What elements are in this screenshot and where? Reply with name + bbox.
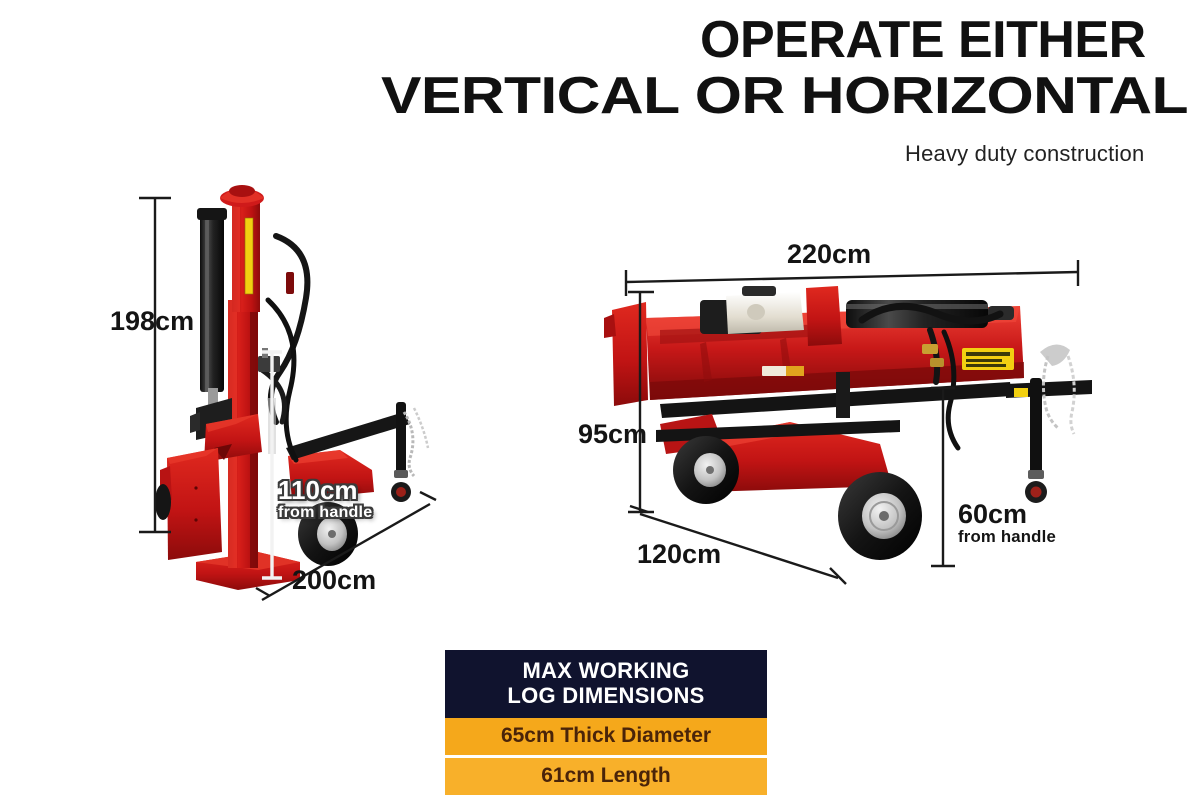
dimline-198cm [139, 198, 171, 532]
dimension-label-length-220cm: 220cm [787, 240, 871, 268]
dimline-110cm [262, 352, 282, 578]
dimension-note-from-handle-2: from handle [958, 528, 1056, 546]
infographic-canvas: OPERATE EITHER VERTICAL OR HORIZONTAL He… [0, 0, 1200, 800]
dimension-label-height-198cm: 198cm [110, 307, 194, 335]
max-log-dimensions-panel: MAX WORKING LOG DIMENSIONS 65cm Thick Di… [445, 650, 767, 795]
spec-row-thick-diameter: 65cm Thick Diameter [445, 718, 767, 755]
dimension-label-110cm-from-handle: 110cm from handle [278, 477, 372, 521]
dimension-label-height-95cm: 95cm [578, 420, 647, 448]
headline-subtitle: Heavy duty construction [905, 141, 1144, 167]
vertical-machine-graphic [155, 185, 428, 590]
spec-title-line-2: LOG DIMENSIONS [449, 684, 763, 709]
dimension-label-60cm-from-handle: 60cm from handle [958, 500, 1056, 546]
dimension-value-60cm: 60cm [958, 499, 1027, 529]
dimline-60cm [931, 388, 955, 566]
dimension-label-length-200cm: 200cm [292, 566, 376, 594]
dimline-95cm [628, 292, 654, 512]
spec-title-line-1: MAX WORKING [449, 659, 763, 684]
dimension-value-110cm: 110cm [278, 475, 358, 505]
dimension-label-width-120cm: 120cm [637, 540, 721, 568]
dimension-note-from-handle: from handle [278, 504, 372, 521]
spec-row-length: 61cm Length [445, 758, 767, 795]
headline-line-1: OPERATE EITHER [700, 14, 1187, 66]
headline-line-2: VERTICAL OR HORIZONTAL [381, 70, 1188, 122]
spec-panel-header: MAX WORKING LOG DIMENSIONS [445, 650, 767, 718]
